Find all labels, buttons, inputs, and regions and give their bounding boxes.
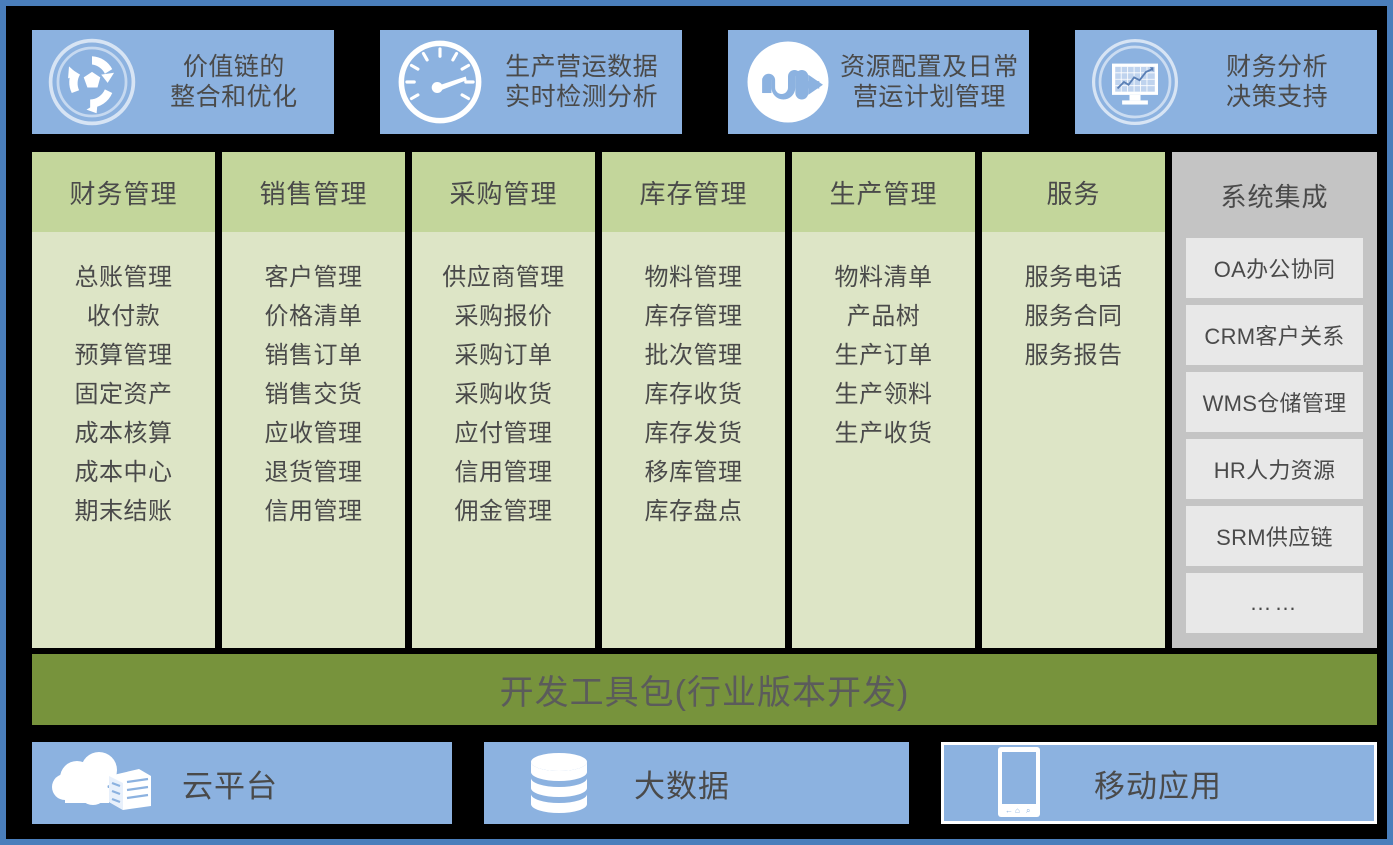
module-item[interactable]: 供应商管理 xyxy=(442,258,565,297)
erp-architecture-diagram: 价值链的 整合和优化 xyxy=(0,0,1393,845)
module-item-list: 服务电话 服务合同 服务报告 xyxy=(982,232,1165,648)
module-item[interactable]: 信用管理 xyxy=(265,492,363,531)
modules-row: 财务管理 总账管理 收付款 预算管理 固定资产 成本核算 成本中心 期末结账 销… xyxy=(32,152,1377,648)
module-item[interactable]: 库存管理 xyxy=(645,297,743,336)
module-column-inventory[interactable]: 库存管理 物料管理 库存管理 批次管理 库存收货 库存发货 移库管理 库存盘点 xyxy=(602,152,785,648)
module-item[interactable]: 生产订单 xyxy=(835,336,933,375)
module-item-list: 物料清单 产品树 生产订单 生产领料 生产收货 xyxy=(792,232,975,648)
svg-text:⌂: ⌂ xyxy=(1015,806,1020,815)
benefit-box-realtime-monitoring[interactable]: 生产营运数据 实时检测分析 xyxy=(380,30,682,134)
benefits-row: 价值链的 整合和优化 xyxy=(32,30,1377,134)
module-item[interactable]: 价格清单 xyxy=(265,297,363,336)
benefit-box-resource-planning[interactable]: 资源配置及日常 营运计划管理 xyxy=(728,30,1030,134)
module-item[interactable]: 物料清单 xyxy=(835,258,933,297)
platform-row: 云平台 大数据 xyxy=(32,742,1377,824)
benefit-label: 生产营运数据 实时检测分析 xyxy=(488,52,682,113)
platform-label: 移动应用 xyxy=(1094,761,1222,806)
module-item-list: 总账管理 收付款 预算管理 固定资产 成本核算 成本中心 期末结账 xyxy=(32,232,215,648)
platform-box-bigdata[interactable]: 大数据 xyxy=(484,742,909,824)
platform-box-cloud[interactable]: 云平台 xyxy=(32,742,452,824)
gauge-speedometer-icon xyxy=(392,34,488,130)
module-item[interactable]: 物料管理 xyxy=(645,258,743,297)
module-item[interactable]: 成本中心 xyxy=(75,453,173,492)
database-stack-icon xyxy=(484,744,634,822)
cloud-building-icon xyxy=(32,744,182,822)
benefit-box-financial-analysis[interactable]: 财务分析 决策支持 xyxy=(1075,30,1377,134)
module-column-sales[interactable]: 销售管理 客户管理 价格清单 销售订单 销售交货 应收管理 退货管理 信用管理 xyxy=(222,152,405,648)
dev-toolkit-bar[interactable]: 开发工具包(行业版本开发) xyxy=(32,654,1377,725)
module-title: 服务 xyxy=(982,152,1165,232)
integration-chip-oa[interactable]: OA办公协同 xyxy=(1186,238,1363,298)
svg-text:←: ← xyxy=(1005,806,1013,815)
module-title: 财务管理 xyxy=(32,152,215,232)
value-chain-cycle-icon xyxy=(44,34,140,130)
module-item[interactable]: 采购报价 xyxy=(455,297,553,336)
module-item[interactable]: 采购收货 xyxy=(455,375,553,414)
module-title: 销售管理 xyxy=(222,152,405,232)
module-item[interactable]: 库存收货 xyxy=(645,375,743,414)
process-flow-arrow-icon xyxy=(740,34,836,130)
module-item[interactable]: 批次管理 xyxy=(645,336,743,375)
platform-label: 云平台 xyxy=(182,761,278,806)
module-item[interactable]: 预算管理 xyxy=(75,336,173,375)
module-item[interactable]: 应付管理 xyxy=(455,414,553,453)
integration-chip-more[interactable]: …… xyxy=(1186,573,1363,633)
platform-box-mobile[interactable]: ← ⌂ ⌕ 移动应用 xyxy=(941,742,1377,824)
platform-label: 大数据 xyxy=(634,761,730,806)
module-item[interactable]: 收付款 xyxy=(87,297,161,336)
module-item[interactable]: 固定资产 xyxy=(75,375,173,414)
module-item[interactable]: 移库管理 xyxy=(645,453,743,492)
integration-chip-srm[interactable]: SRM供应链 xyxy=(1186,506,1363,566)
monitor-chart-icon xyxy=(1087,34,1183,130)
integration-chip-crm[interactable]: CRM客户关系 xyxy=(1186,305,1363,365)
module-item[interactable]: 信用管理 xyxy=(455,453,553,492)
svg-text:⌕: ⌕ xyxy=(1026,806,1030,815)
module-item[interactable]: 服务合同 xyxy=(1025,297,1123,336)
module-title: 库存管理 xyxy=(602,152,785,232)
benefit-label: 价值链的 整合和优化 xyxy=(140,52,334,113)
integration-chip-wms[interactable]: WMS仓储管理 xyxy=(1186,372,1363,432)
module-item[interactable]: 期末结账 xyxy=(75,492,173,531)
module-item[interactable]: 服务电话 xyxy=(1025,258,1123,297)
module-column-system-integration[interactable]: 系统集成 OA办公协同 CRM客户关系 WMS仓储管理 HR人力资源 SRM供应… xyxy=(1172,152,1377,648)
module-item-list: 客户管理 价格清单 销售订单 销售交货 应收管理 退货管理 信用管理 xyxy=(222,232,405,648)
module-item[interactable]: 产品树 xyxy=(847,297,921,336)
module-item[interactable]: 退货管理 xyxy=(265,453,363,492)
module-title: 生产管理 xyxy=(792,152,975,232)
module-item[interactable]: 服务报告 xyxy=(1025,336,1123,375)
module-item[interactable]: 佣金管理 xyxy=(455,492,553,531)
benefit-label: 资源配置及日常 营运计划管理 xyxy=(836,52,1030,113)
dev-toolkit-label: 开发工具包(行业版本开发) xyxy=(500,665,910,714)
module-item[interactable]: 客户管理 xyxy=(265,258,363,297)
module-item[interactable]: 成本核算 xyxy=(75,414,173,453)
module-item-list: 物料管理 库存管理 批次管理 库存收货 库存发货 移库管理 库存盘点 xyxy=(602,232,785,648)
module-column-finance[interactable]: 财务管理 总账管理 收付款 预算管理 固定资产 成本核算 成本中心 期末结账 xyxy=(32,152,215,648)
module-item[interactable]: 库存盘点 xyxy=(645,492,743,531)
module-column-production[interactable]: 生产管理 物料清单 产品树 生产订单 生产领料 生产收货 xyxy=(792,152,975,648)
module-item[interactable]: 库存发货 xyxy=(645,414,743,453)
module-item[interactable]: 销售订单 xyxy=(265,336,363,375)
module-item[interactable]: 生产收货 xyxy=(835,414,933,453)
module-item-list: 供应商管理 采购报价 采购订单 采购收货 应付管理 信用管理 佣金管理 xyxy=(412,232,595,648)
module-item[interactable]: 总账管理 xyxy=(75,258,173,297)
module-title: 采购管理 xyxy=(412,152,595,232)
benefit-box-value-chain[interactable]: 价值链的 整合和优化 xyxy=(32,30,334,134)
integration-chip-hr[interactable]: HR人力资源 xyxy=(1186,439,1363,499)
module-column-procurement[interactable]: 采购管理 供应商管理 采购报价 采购订单 采购收货 应付管理 信用管理 佣金管理 xyxy=(412,152,595,648)
integration-title: 系统集成 xyxy=(1172,152,1377,238)
module-item[interactable]: 生产领料 xyxy=(835,375,933,414)
module-column-service[interactable]: 服务 服务电话 服务合同 服务报告 xyxy=(982,152,1165,648)
integration-chip-list: OA办公协同 CRM客户关系 WMS仓储管理 HR人力资源 SRM供应链 …… xyxy=(1172,238,1377,648)
mobile-phone-icon: ← ⌂ ⌕ xyxy=(944,744,1094,822)
module-item[interactable]: 销售交货 xyxy=(265,375,363,414)
module-item[interactable]: 采购订单 xyxy=(455,336,553,375)
module-item[interactable]: 应收管理 xyxy=(265,414,363,453)
benefit-label: 财务分析 决策支持 xyxy=(1183,52,1377,113)
